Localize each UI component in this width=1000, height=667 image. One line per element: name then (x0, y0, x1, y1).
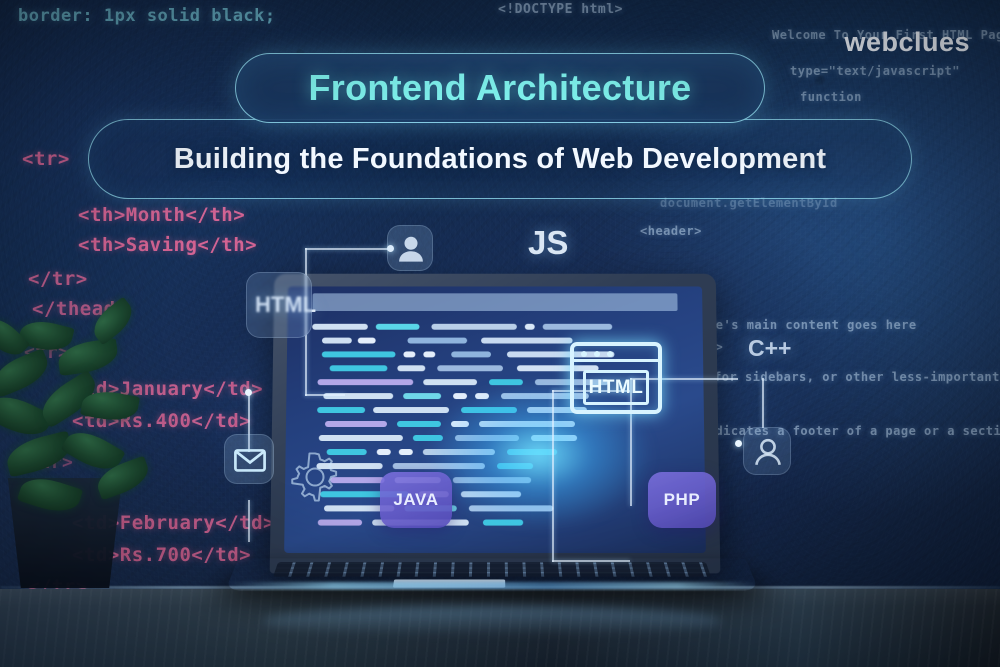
browser-html-label: HTML (583, 370, 649, 405)
mail-icon[interactable] (224, 434, 274, 484)
bg-code-line: <header> (640, 224, 702, 238)
laptop-lid (270, 274, 721, 574)
connector-line (552, 560, 630, 562)
bg-code-line: <th>Month</th> (78, 204, 245, 226)
bg-code-line: <th>Saving</th> (78, 234, 257, 256)
laptop-screen (284, 286, 706, 553)
infographic-banner: border: 1px solid black; <tr> <th>Month<… (0, 0, 1000, 667)
connector-line (305, 394, 345, 396)
gear-icon[interactable] (286, 448, 344, 506)
potted-plant (0, 288, 176, 588)
browser-dot (581, 351, 587, 357)
laptop-base (225, 558, 759, 590)
laptop-keyboard (273, 562, 712, 577)
person-icon (388, 226, 434, 272)
browser-dot (607, 351, 613, 357)
user-icon-top[interactable] (387, 225, 433, 271)
connector-line (305, 248, 391, 250)
bg-code-line: </tr> (28, 268, 88, 290)
laptop-reflection (262, 606, 722, 636)
connector-line (552, 390, 554, 562)
js-label: JS (528, 224, 568, 262)
connector-line (762, 378, 764, 428)
cpp-label: C++ (748, 335, 791, 362)
bg-code-line: function (800, 90, 862, 104)
user-icon-right[interactable] (743, 427, 791, 475)
html-browser-icon[interactable]: HTML (570, 342, 662, 414)
bg-code-line: border: 1px solid black; (18, 6, 276, 26)
connector-dot (245, 389, 252, 396)
bg-code-line: <tr> (22, 148, 70, 170)
screen-titlebar (312, 293, 677, 311)
page-subtitle: Building the Foundations of Web Developm… (174, 143, 827, 176)
laptop-base-glow (226, 582, 758, 589)
page-title: Frontend Architecture (309, 67, 692, 109)
title-pill: Frontend Architecture (235, 53, 765, 123)
connector-dot (735, 440, 742, 447)
cog-icon (286, 448, 344, 506)
html-chip-backdrop (246, 272, 312, 338)
connector-line (248, 500, 250, 542)
subtitle-pill: Building the Foundations of Web Developm… (88, 119, 912, 199)
person-icon (744, 428, 792, 476)
browser-dot (594, 351, 600, 357)
php-badge[interactable]: PHP (648, 472, 716, 528)
java-badge[interactable]: JAVA (380, 472, 452, 528)
brand-logo[interactable]: webclues (844, 27, 970, 58)
plant-foliage (0, 288, 176, 588)
bg-code-line: type="text/javascript" (790, 64, 960, 78)
bg-code-line: <!DOCTYPE html> (498, 2, 623, 17)
envelope-icon (225, 435, 275, 485)
